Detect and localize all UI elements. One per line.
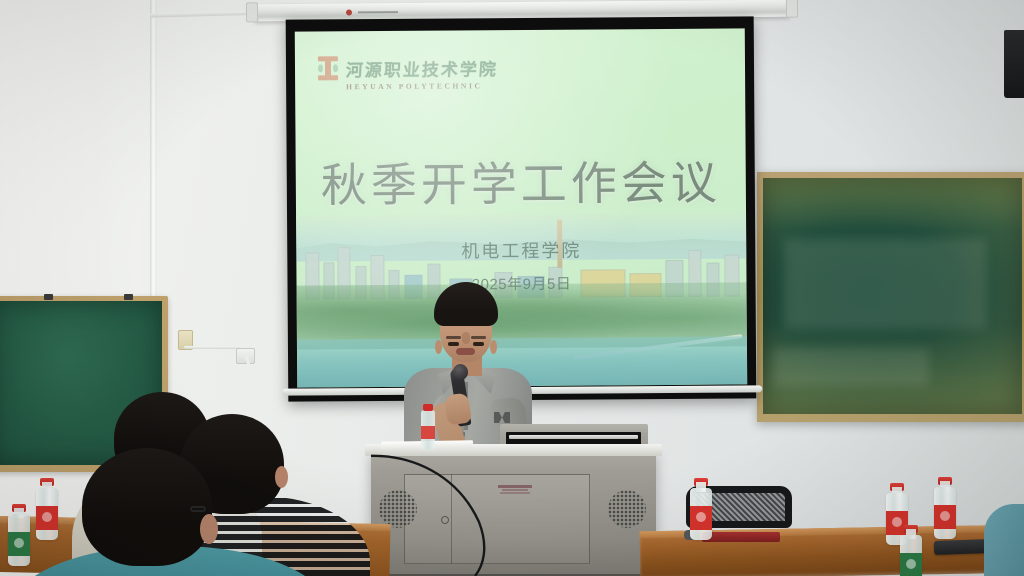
presenter-hand bbox=[444, 392, 472, 425]
slide-institution-logo: 河源职业技术学院 HEYUAN POLYTECHNIC bbox=[317, 54, 498, 91]
roller-mount-right bbox=[786, 0, 798, 18]
presenter-hair bbox=[434, 282, 498, 326]
podium-cabinet-lock-icon[interactable] bbox=[441, 516, 449, 524]
wall-pillar-edge bbox=[150, 0, 157, 340]
chalkboard-right bbox=[757, 172, 1024, 422]
wall-hanger-bar bbox=[184, 346, 240, 349]
presenter-nose bbox=[462, 332, 470, 344]
board-clip bbox=[44, 294, 53, 300]
podium-brand-label bbox=[494, 485, 536, 505]
attendee-right-edge bbox=[984, 504, 1024, 576]
slide-subtitle: 机电工程学院 bbox=[296, 235, 746, 264]
water-bottle[interactable] bbox=[8, 504, 30, 566]
water-bottle[interactable] bbox=[934, 477, 956, 539]
room-scene: 河源职业技术学院 HEYUAN POLYTECHNIC 秋季开学工作会议 机电工… bbox=[0, 0, 1024, 576]
chalk-smear bbox=[784, 239, 986, 329]
university-emblem-icon bbox=[317, 55, 339, 81]
attendee-teal-shirt bbox=[52, 448, 302, 576]
roller-mount-left bbox=[246, 2, 258, 22]
logo-text-cn: 河源职业技术学院 bbox=[345, 55, 499, 81]
wall-mounted-speaker-box bbox=[1004, 30, 1024, 98]
slide-title: 秋季开学工作会议 bbox=[296, 146, 746, 215]
hanging-cable-loop bbox=[228, 352, 250, 378]
mobile-phone[interactable] bbox=[934, 539, 990, 555]
water-bottle[interactable] bbox=[690, 478, 712, 540]
roller-indicator-light bbox=[346, 9, 352, 15]
chalkboard-right-surface bbox=[763, 178, 1022, 414]
podium-water-bottle[interactable] bbox=[421, 410, 435, 450]
podium-speaker-grille-right bbox=[608, 490, 646, 528]
chalk-smear bbox=[773, 348, 928, 386]
water-bottle[interactable] bbox=[900, 525, 922, 576]
podium-cabinet-door-seam bbox=[451, 474, 452, 564]
logo-text-en: HEYUAN POLYTECHNIC bbox=[346, 81, 498, 91]
presenter-mouth bbox=[456, 348, 475, 355]
chair-seat-edge bbox=[702, 532, 780, 542]
attendee-head bbox=[82, 448, 212, 566]
board-clip bbox=[124, 294, 133, 300]
roller-label-strip bbox=[358, 11, 398, 13]
podium-speaker-grille-left bbox=[379, 490, 417, 528]
podium[interactable] bbox=[371, 452, 656, 576]
